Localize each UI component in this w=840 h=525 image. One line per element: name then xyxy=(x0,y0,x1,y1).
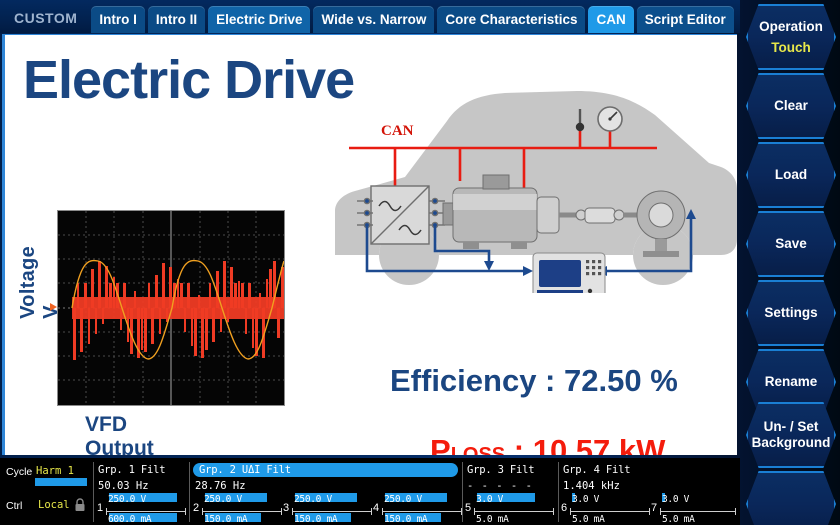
status-divider-1 xyxy=(93,462,94,522)
channel-6-current: 5.0 mA xyxy=(572,514,605,525)
side-button-operation-value: Touch xyxy=(771,40,811,56)
waveform-canvas[interactable] xyxy=(57,210,285,406)
ctrl-value[interactable]: Local xyxy=(38,499,70,511)
group-4-frequency: 1.404 kHz xyxy=(563,480,620,492)
group-4-header[interactable]: Grp. 4 Filt xyxy=(563,464,630,476)
side-button-save[interactable]: Save xyxy=(746,211,836,277)
channel-7-number: 7 xyxy=(651,502,657,514)
side-button-operation[interactable]: Operation Touch xyxy=(746,4,836,70)
waveform-caption: VFD Output xyxy=(85,413,154,455)
power-loss-separator: : xyxy=(505,433,533,455)
channel-2-current: 150.0 mA xyxy=(204,514,247,525)
channel-1-number: 1 xyxy=(97,502,103,514)
tab-bar: CUSTOM Intro I Intro II Electric Drive W… xyxy=(0,0,740,33)
side-button-unset-background[interactable]: Un- / SetBackground xyxy=(746,402,836,468)
channel-7-current: 5.0 mA xyxy=(662,514,695,525)
group-2-header[interactable]: Grp. 2 UΔI Filt xyxy=(193,463,458,477)
channel-5-current: 5.0 mA xyxy=(476,514,509,525)
electric-drive-diagram: CAN xyxy=(277,63,737,293)
channel-6-voltage: 3.0 V xyxy=(572,494,599,505)
power-loss-value: 10.57 kW xyxy=(533,433,666,455)
side-button-clear[interactable]: Clear xyxy=(746,73,836,139)
channel-4-voltage: 250.0 V xyxy=(384,494,422,505)
power-analyzer-instrument xyxy=(533,253,605,293)
power-loss-readout: PLOSS : 10.57 kW xyxy=(430,433,665,455)
side-button-clear-label: Clear xyxy=(774,98,808,114)
padlock-icon xyxy=(74,498,86,512)
side-button-settings-label: Settings xyxy=(764,305,817,321)
efficiency-label: Efficiency : xyxy=(390,363,564,398)
cycle-value[interactable]: Harm 1 xyxy=(36,465,74,477)
channel-3-current: 150.0 mA xyxy=(294,514,337,525)
group-1-header[interactable]: Grp. 1 Filt xyxy=(98,464,165,476)
side-button-operation-label: Operation xyxy=(759,19,823,35)
channel-4-current: 150.0 mA xyxy=(384,514,427,525)
channel-5-voltage: 3.0 V xyxy=(476,494,503,505)
side-button-rail: Operation Touch Clear Load Save Settings… xyxy=(742,2,838,523)
can-bus-label: CAN xyxy=(381,123,414,139)
group-1-frequency: 50.03 Hz xyxy=(98,480,149,492)
scope-application-window: CUSTOM Intro I Intro II Electric Drive W… xyxy=(0,0,840,525)
status-divider-2 xyxy=(189,462,190,522)
efficiency-readout: Efficiency : 72.50 % xyxy=(390,363,678,399)
group-3-header[interactable]: Grp. 3 Filt xyxy=(467,464,534,476)
channel-3-number: 3 xyxy=(283,502,289,514)
power-loss-subscript: LOSS xyxy=(451,444,505,455)
power-loss-label: P xyxy=(430,433,451,455)
tab-core-characteristics[interactable]: Core Characteristics xyxy=(437,6,585,33)
cycle-indicator-bar xyxy=(35,478,87,486)
pwm-waveform-trace xyxy=(72,261,284,360)
tab-script-editor[interactable]: Script Editor xyxy=(637,6,734,33)
status-bar: Cycle Harm 1 Ctrl Local Grp. 1 Filt 50.0… xyxy=(0,458,740,525)
side-button-load-label: Load xyxy=(775,167,807,183)
side-button-settings[interactable]: Settings xyxy=(746,280,836,346)
group-2-frequency: 28.76 Hz xyxy=(195,480,246,492)
efficiency-value: 72.50 % xyxy=(564,363,678,398)
cycle-label: Cycle xyxy=(6,466,32,478)
channel-3-voltage: 250.0 V xyxy=(294,494,332,505)
channel-6-number: 6 xyxy=(561,502,567,514)
tab-intro-2[interactable]: Intro II xyxy=(148,6,205,33)
inverter-block xyxy=(371,186,429,244)
side-button-load[interactable]: Load xyxy=(746,142,836,208)
channel-2-number: 2 xyxy=(193,502,199,514)
tab-can[interactable]: CAN xyxy=(588,6,633,33)
channel-7-voltage: 3.0 V xyxy=(662,494,689,505)
tab-intro-1[interactable]: Intro I xyxy=(91,6,145,33)
channel-5-number: 5 xyxy=(465,502,471,514)
side-button-unset-background-label: Un- / SetBackground xyxy=(752,419,831,450)
channel-4-number: 4 xyxy=(373,502,379,514)
channel-1-current: 600.0 mA xyxy=(108,514,151,525)
status-divider-3 xyxy=(462,462,463,522)
tab-electric-drive[interactable]: Electric Drive xyxy=(208,6,310,33)
side-button-empty[interactable] xyxy=(746,471,836,525)
custom-menu-label: CUSTOM xyxy=(6,10,91,33)
gauge-sensor-icon xyxy=(598,107,622,131)
group-3-frequency: - - - - - xyxy=(467,480,533,492)
side-button-rename-label: Rename xyxy=(765,374,818,390)
channel-1-voltage: 250.0 V xyxy=(108,494,146,505)
channel-2-voltage: 250.0 V xyxy=(204,494,242,505)
tab-wide-vs-narrow[interactable]: Wide vs. Narrow xyxy=(313,6,434,33)
content-panel: Electric Drive CAN xyxy=(2,34,737,455)
side-button-save-label: Save xyxy=(775,236,807,252)
trigger-level-marker xyxy=(50,303,57,311)
ctrl-label: Ctrl xyxy=(6,500,22,512)
status-divider-4 xyxy=(558,462,559,522)
